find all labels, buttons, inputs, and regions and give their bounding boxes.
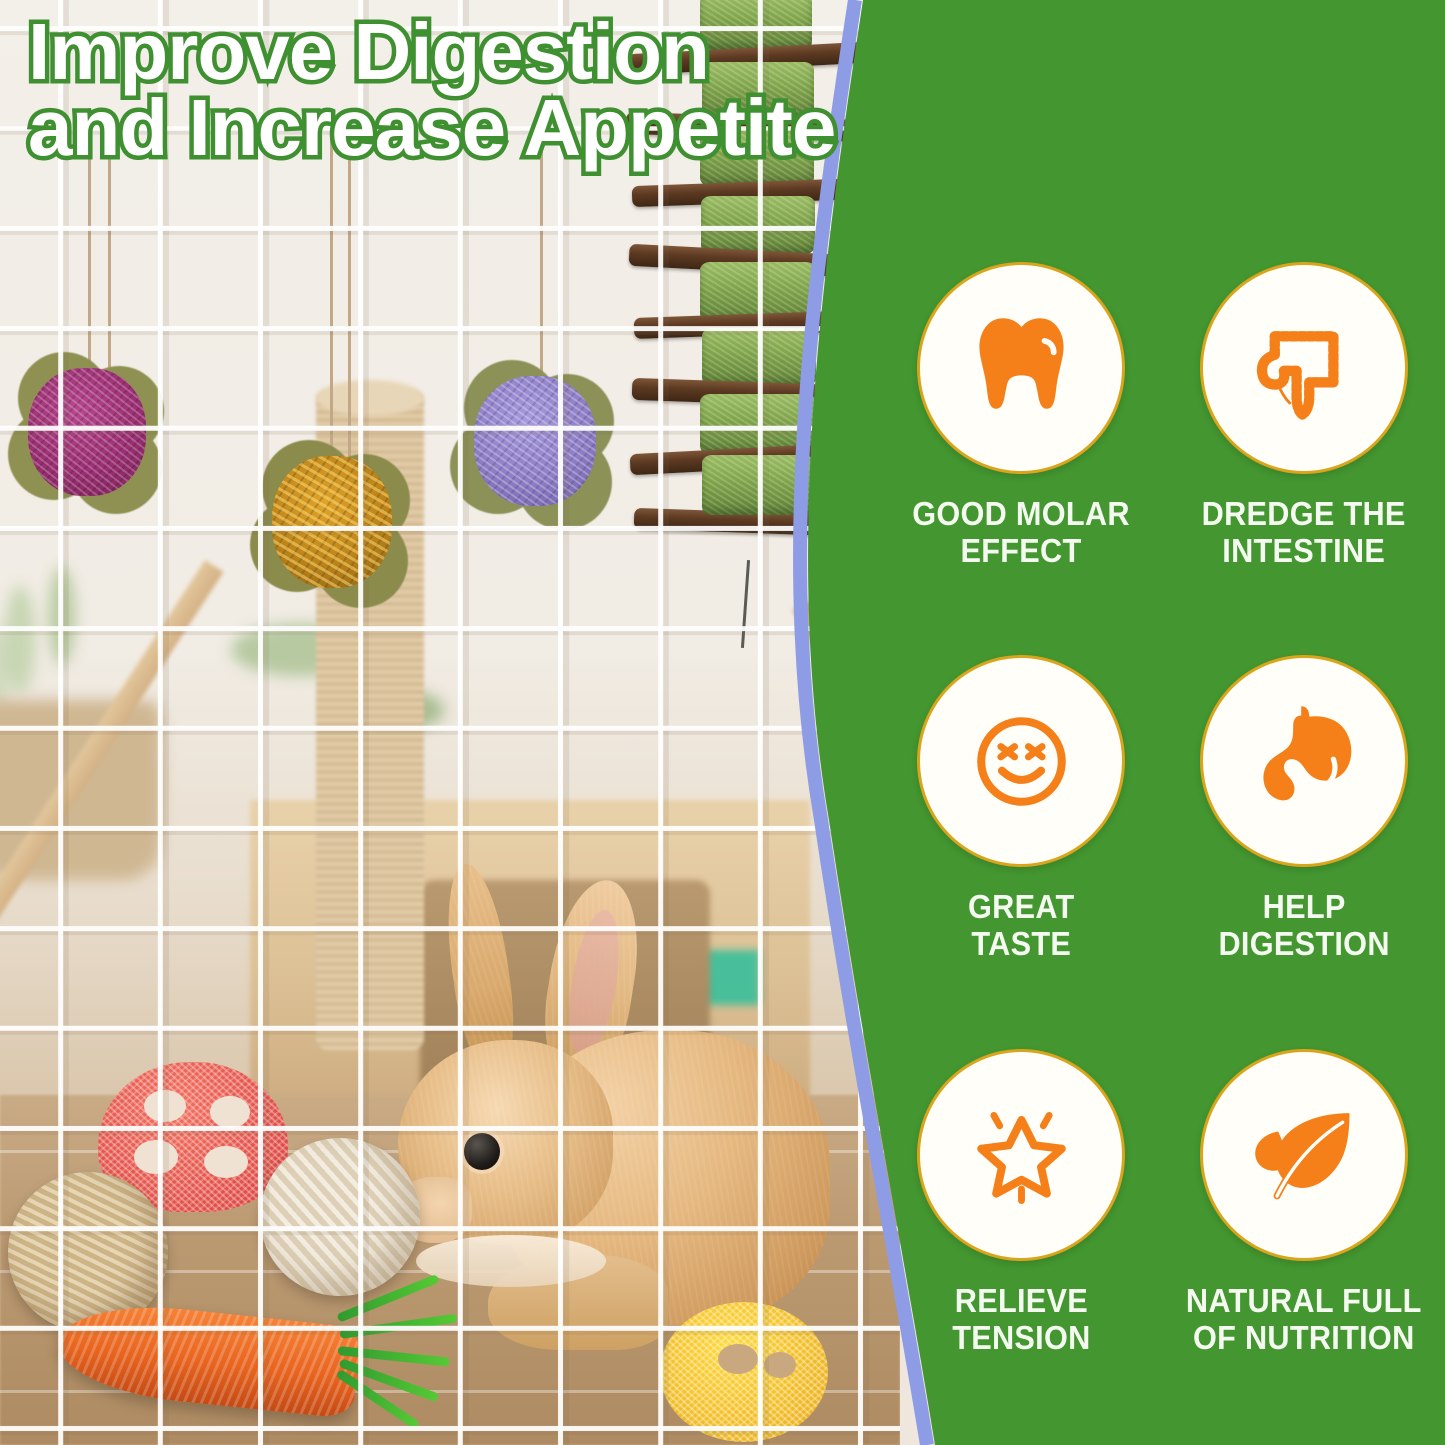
benefit-grid: GOOD MOLAR EFFECT DREDGE THE INTESTINE: [880, 262, 1445, 1442]
benefit-label: GOOD MOLAR EFFECT: [912, 496, 1130, 570]
product-infographic: GOOD MOLAR EFFECT DREDGE THE INTESTINE: [0, 0, 1445, 1445]
benefit-relieve-tension: RELIEVE TENSION: [880, 1049, 1163, 1442]
benefit-natural-full-of-nutrition: NATURAL FULL OF NUTRITION: [1163, 1049, 1445, 1442]
benefit-good-molar-effect: GOOD MOLAR EFFECT: [880, 262, 1163, 655]
benefit-icon-bubble: [1200, 655, 1408, 867]
benefit-label: GREAT TASTE: [968, 889, 1075, 963]
title-line-1: Improve Digestion: [28, 14, 1088, 90]
benefit-great-taste: GREAT TASTE: [880, 655, 1163, 1048]
benefit-label: HELP DIGESTION: [1218, 889, 1389, 963]
benefit-icon-bubble: [917, 1049, 1125, 1261]
tooth-icon: [964, 311, 1079, 426]
benefit-dredge-the-intestine: DREDGE THE INTESTINE: [1163, 262, 1445, 655]
star-icon: [964, 1097, 1079, 1212]
stomach-icon: [1246, 704, 1361, 819]
benefit-icon-bubble: [917, 262, 1125, 474]
leaf-icon: [1246, 1097, 1361, 1212]
benefit-icon-bubble: [917, 655, 1125, 867]
benefit-icon-bubble: [1200, 262, 1408, 474]
title-line-2: and Increase Appetite: [28, 90, 1088, 166]
smiley-icon: [964, 704, 1079, 819]
benefit-label: RELIEVE TENSION: [952, 1283, 1090, 1357]
benefit-label: NATURAL FULL OF NUTRITION: [1186, 1283, 1422, 1357]
benefit-help-digestion: HELP DIGESTION: [1163, 655, 1445, 1048]
benefit-icon-bubble: [1200, 1049, 1408, 1261]
benefit-label: DREDGE THE INTESTINE: [1202, 496, 1406, 570]
intestine-icon: [1246, 311, 1361, 426]
page-title: Improve Digestion and Increase Appetite: [28, 14, 1088, 166]
